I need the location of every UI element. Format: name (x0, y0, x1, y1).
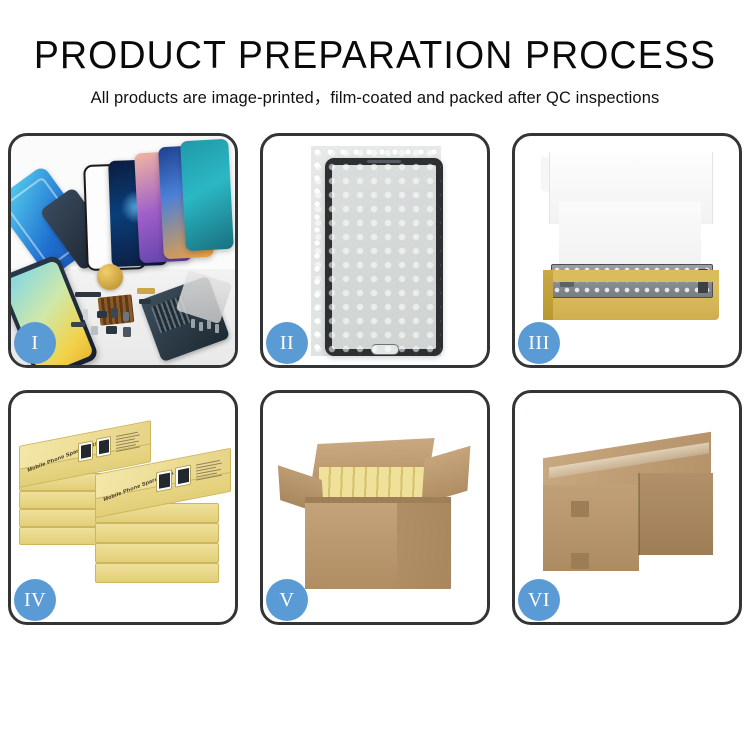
process-step-panel-1: I (8, 133, 238, 368)
part-icon (111, 308, 118, 318)
product-preparation-infographic: PRODUCT PREPARATION PROCESS All products… (0, 0, 750, 750)
process-step-panel-4: Mobile Phone Spare Parts (8, 390, 238, 625)
screws-icon (191, 319, 221, 337)
step-badge-2: II (266, 322, 308, 364)
part-icon (123, 327, 131, 337)
box-spec-lines (196, 459, 224, 482)
page-subtitle: All products are image-printed，film-coat… (0, 87, 750, 109)
process-step-panel-3: III (512, 133, 742, 368)
phone-display-teal-icon (180, 139, 234, 251)
page-header: PRODUCT PREPARATION PROCESS All products… (0, 0, 750, 109)
home-button-icon (371, 344, 399, 355)
carton-tab (571, 553, 589, 569)
part-icon (97, 311, 107, 318)
part-icon (106, 326, 117, 334)
part-icon (123, 312, 129, 321)
speaker-module-icon (97, 264, 123, 290)
process-step-panel-2: II (260, 133, 490, 368)
part-icon (75, 292, 101, 297)
page-title: PRODUCT PREPARATION PROCESS (15, 34, 735, 78)
part-icon (137, 288, 155, 294)
part-icon (91, 326, 98, 335)
phone-graphic (175, 465, 191, 488)
step-badge-1: I (14, 322, 56, 364)
phone-screen-icon (325, 158, 443, 356)
retail-box (95, 563, 219, 583)
step-badge-4: IV (14, 579, 56, 621)
box-front-flap (543, 270, 719, 282)
retail-box (95, 523, 219, 543)
carton-tab (571, 501, 589, 517)
part-icon (139, 299, 151, 304)
phone-graphic (78, 440, 93, 462)
part-icon (83, 309, 88, 320)
box-side-left (543, 270, 553, 320)
step-badge-3: III (518, 322, 560, 364)
carton-front-face (543, 485, 639, 571)
process-step-panel-5: V (260, 390, 490, 625)
part-icon (71, 322, 85, 327)
step-badge-6: VI (518, 579, 560, 621)
carton-corner-seam (638, 473, 640, 555)
retail-box (95, 543, 219, 563)
step-badge-5: V (266, 579, 308, 621)
phone-graphic (156, 469, 172, 492)
process-step-grid: I II III (8, 133, 742, 625)
phone-graphic (96, 436, 111, 458)
process-step-panel-6: VI (512, 390, 742, 625)
box-spec-lines (116, 431, 142, 454)
carton-front-face (305, 503, 397, 589)
box-stack: Mobile Phone Spare Parts (17, 411, 235, 611)
carton-side-face (639, 473, 713, 555)
